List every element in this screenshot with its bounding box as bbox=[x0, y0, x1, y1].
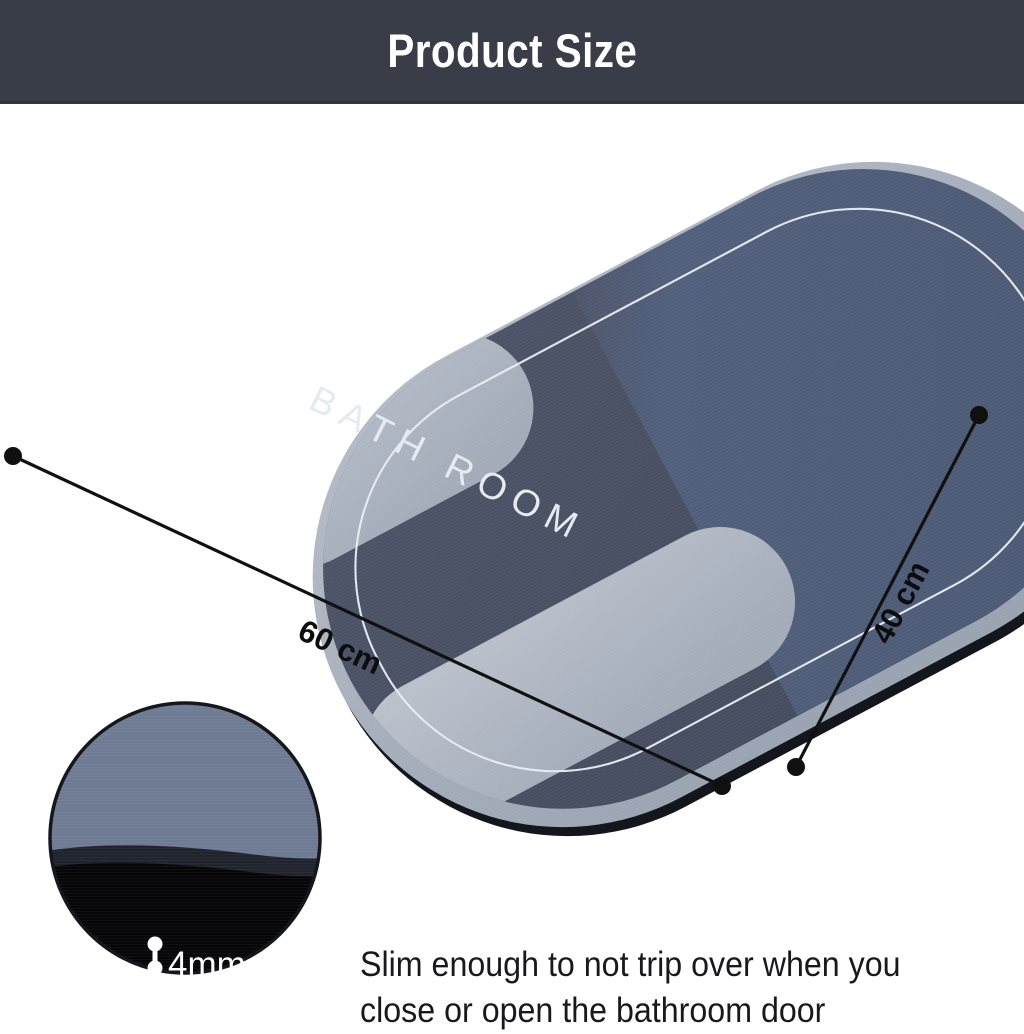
caption-line-2: close or open the bathroom door bbox=[360, 988, 940, 1034]
header-bar: Product Size bbox=[0, 0, 1024, 101]
caption-line-1: Slim enough to not trip over when you bbox=[360, 942, 940, 988]
thickness-detail-circle: 4mm bbox=[0, 104, 1024, 1024]
page-title: Product Size bbox=[387, 23, 637, 78]
product-illustration-stage: BATH ROOM 60 cm 40 cm bbox=[0, 104, 1024, 1024]
feature-caption: Slim enough to not trip over when you cl… bbox=[360, 942, 940, 1034]
thickness-label: 4mm bbox=[168, 945, 246, 984]
